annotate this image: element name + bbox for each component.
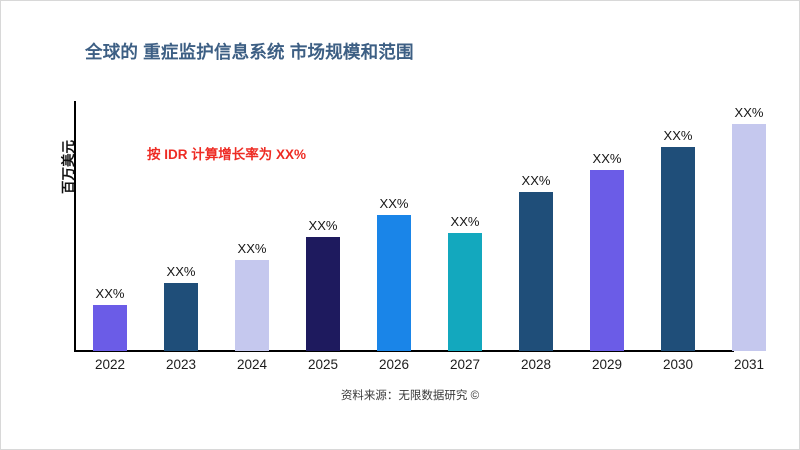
bar-group: XX% xyxy=(361,101,427,351)
x-axis-tick-labels: 2022202320242025202620272028202920302031 xyxy=(74,357,786,379)
bar-value-label: XX% xyxy=(735,105,764,120)
bar[interactable] xyxy=(377,215,411,351)
bar-group: XX% xyxy=(77,101,143,351)
bar[interactable] xyxy=(306,237,340,351)
bar-value-label: XX% xyxy=(593,151,622,166)
x-axis-tick-2025: 2025 xyxy=(290,357,356,372)
x-axis-tick-2024: 2024 xyxy=(219,357,285,372)
x-axis-tick-2028: 2028 xyxy=(503,357,569,372)
bar-group: XX% xyxy=(503,101,569,351)
x-axis-tick-2027: 2027 xyxy=(432,357,498,372)
bar[interactable] xyxy=(93,305,127,351)
x-axis-tick-2029: 2029 xyxy=(574,357,640,372)
x-axis-tick-2023: 2023 xyxy=(148,357,214,372)
x-axis-tick-2031: 2031 xyxy=(716,357,782,372)
bar-value-label: XX% xyxy=(167,264,196,279)
bar-group: XX% xyxy=(219,101,285,351)
bar[interactable] xyxy=(732,124,766,351)
x-axis-tick-2022: 2022 xyxy=(77,357,143,372)
bar[interactable] xyxy=(661,147,695,351)
bar-group: XX% xyxy=(645,101,711,351)
bar-group: XX% xyxy=(148,101,214,351)
bar-value-label: XX% xyxy=(238,241,267,256)
bar-value-label: XX% xyxy=(380,196,409,211)
source-note: 资料来源：无限数据研究 © xyxy=(1,387,799,403)
bar-value-label: XX% xyxy=(309,218,338,233)
chart-canvas: 全球的 重症监护信息系统 市场规模和范围 百万美元 按 IDR 计算增长率为 X… xyxy=(0,0,800,450)
bar-value-label: XX% xyxy=(522,173,551,188)
bar-value-label: XX% xyxy=(96,286,125,301)
bar-group: XX% xyxy=(574,101,640,351)
page-title: 全球的 重症监护信息系统 市场规模和范围 xyxy=(85,39,414,64)
bar-value-label: XX% xyxy=(664,128,693,143)
bar[interactable] xyxy=(448,233,482,351)
bar-group: XX% xyxy=(432,101,498,351)
x-axis-tick-2026: 2026 xyxy=(361,357,427,372)
bar[interactable] xyxy=(164,283,198,351)
bar[interactable] xyxy=(235,260,269,351)
x-axis-tick-2030: 2030 xyxy=(645,357,711,372)
bar[interactable] xyxy=(519,192,553,351)
bar[interactable] xyxy=(590,170,624,351)
bar-group: XX% xyxy=(716,101,782,351)
bar-series: XX%XX%XX%XX%XX%XX%XX%XX%XX%XX% xyxy=(74,101,786,351)
bar-group: XX% xyxy=(290,101,356,351)
bar-value-label: XX% xyxy=(451,214,480,229)
